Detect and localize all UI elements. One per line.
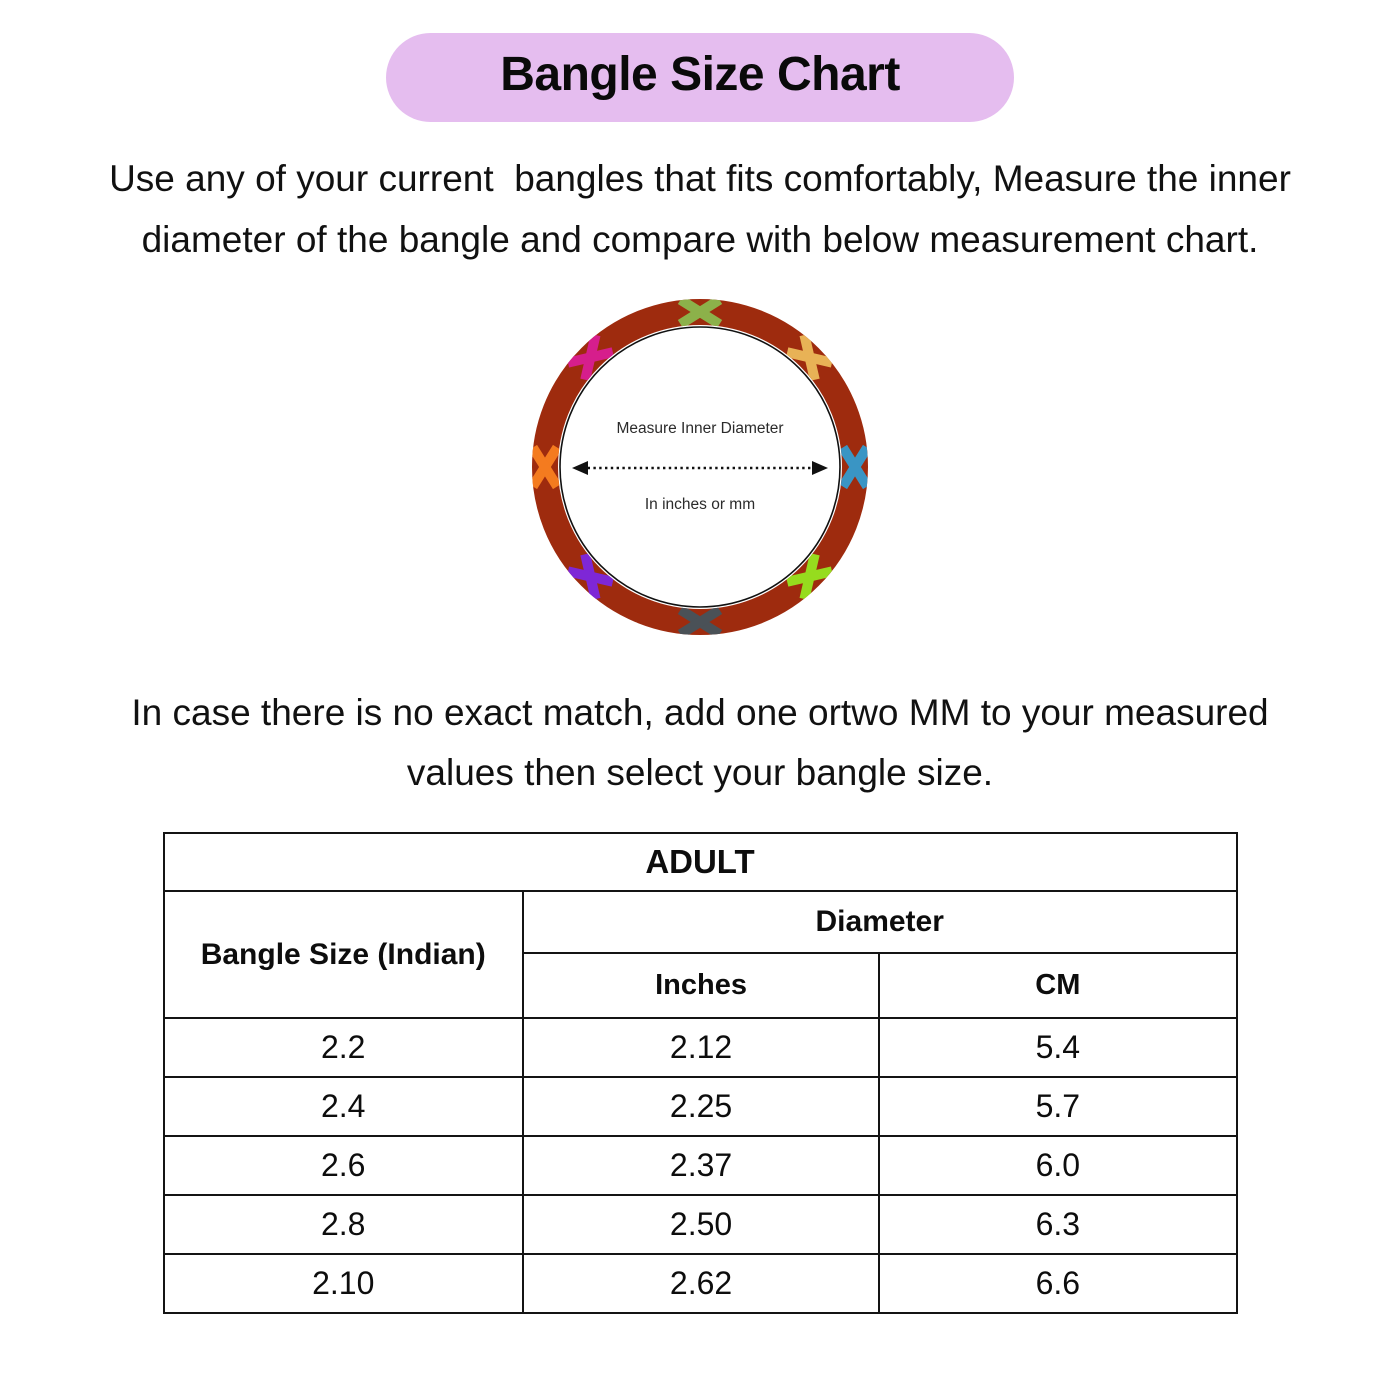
table-row-adult-title: ADULT: [164, 833, 1237, 891]
column-header-inches: Inches: [523, 953, 879, 1018]
cell-inches: 2.37: [523, 1136, 879, 1195]
cell-inches: 2.12: [523, 1018, 879, 1077]
bangle-diagram-svg: Measure Inner Diameter In inches or mm: [510, 277, 890, 657]
cell-bangle-size: 2.4: [164, 1077, 523, 1136]
table-row: 2.8 2.50 6.3: [164, 1195, 1237, 1254]
column-header-diameter: Diameter: [523, 891, 1237, 953]
cell-cm: 6.3: [879, 1195, 1236, 1254]
measure-inner-diameter-label: Measure Inner Diameter: [616, 420, 783, 437]
header: Bangle Size Chart: [0, 0, 1400, 122]
bangle-size-table: ADULT Bangle Size (Indian) Diameter Inch…: [163, 832, 1238, 1314]
intro-paragraph: Use any of your current bangles that fit…: [85, 148, 1315, 271]
table-row: 2.2 2.12 5.4: [164, 1018, 1237, 1077]
cell-bangle-size: 2.6: [164, 1136, 523, 1195]
page-title-pill: Bangle Size Chart: [386, 33, 1014, 122]
cell-inches: 2.50: [523, 1195, 879, 1254]
column-header-bangle-size: Bangle Size (Indian): [164, 891, 523, 1018]
table-row: 2.4 2.25 5.7: [164, 1077, 1237, 1136]
table-row: 2.10 2.62 6.6: [164, 1254, 1237, 1313]
page-title: Bangle Size Chart: [450, 49, 950, 102]
size-table-container: ADULT Bangle Size (Indian) Diameter Inch…: [163, 832, 1238, 1314]
cell-cm: 6.0: [879, 1136, 1236, 1195]
cell-bangle-size: 2.10: [164, 1254, 523, 1313]
cell-cm: 6.6: [879, 1254, 1236, 1313]
cell-inches: 2.62: [523, 1254, 879, 1313]
table-row: 2.6 2.37 6.0: [164, 1136, 1237, 1195]
column-header-cm: CM: [879, 953, 1236, 1018]
table-head: ADULT Bangle Size (Indian) Diameter Inch…: [164, 833, 1237, 1018]
bangle-illustration: Measure Inner Diameter In inches or mm: [0, 277, 1400, 657]
cell-cm: 5.4: [879, 1018, 1236, 1077]
table-body: 2.2 2.12 5.4 2.4 2.25 5.7 2.6 2.37 6.0 2…: [164, 1018, 1237, 1313]
cell-bangle-size: 2.8: [164, 1195, 523, 1254]
diameter-arrow: [572, 461, 828, 475]
cell-inches: 2.25: [523, 1077, 879, 1136]
note-paragraph: In case there is no exact match, add one…: [85, 683, 1315, 803]
table-row-group-headers: Bangle Size (Indian) Diameter: [164, 891, 1237, 953]
table-title-adult: ADULT: [164, 833, 1237, 891]
cell-bangle-size: 2.2: [164, 1018, 523, 1077]
in-inches-or-mm-label: In inches or mm: [645, 496, 755, 513]
cell-cm: 5.7: [879, 1077, 1236, 1136]
